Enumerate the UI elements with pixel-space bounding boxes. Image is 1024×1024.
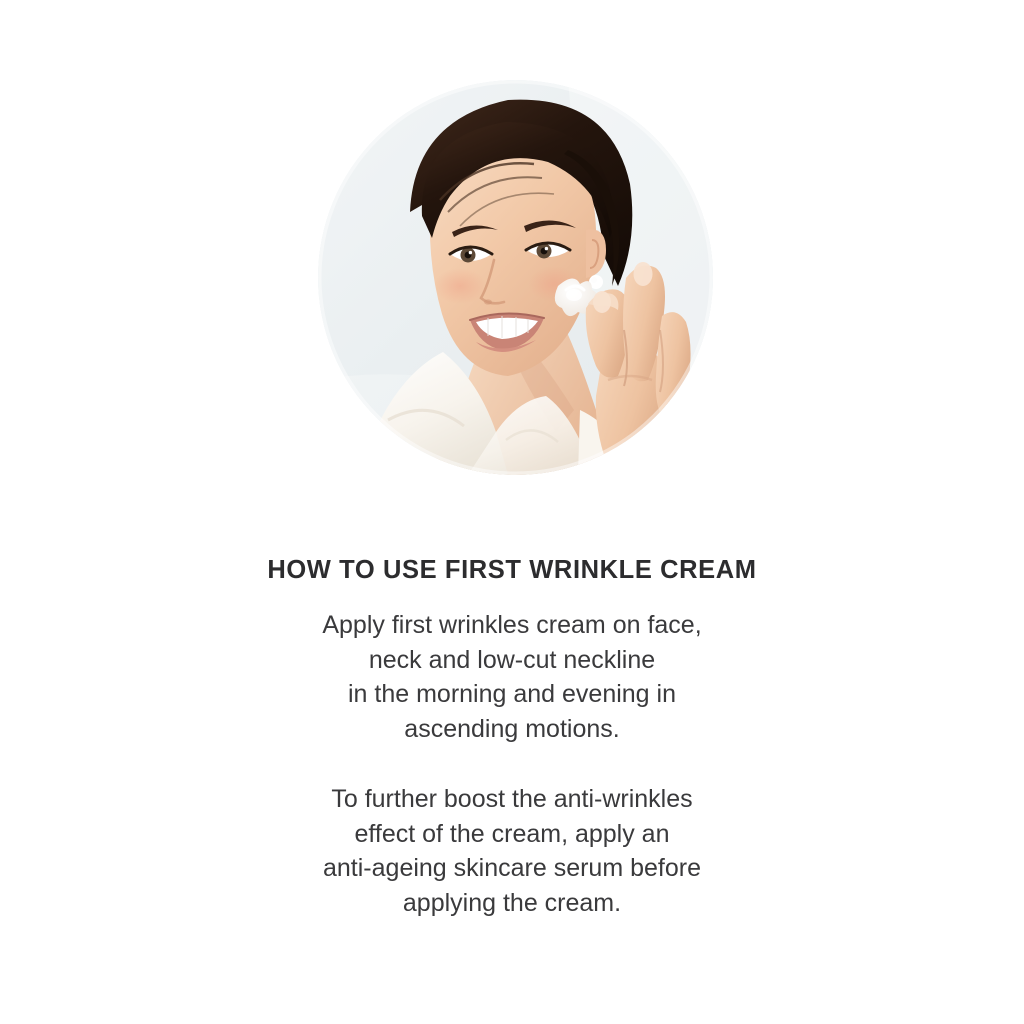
paragraph-line: effect of the cream, apply an <box>162 817 862 852</box>
paragraph-line: To further boost the anti-wrinkles <box>162 782 862 817</box>
instruction-paragraph-1: Apply first wrinkles cream on face, neck… <box>162 608 862 746</box>
instruction-paragraph-2: To further boost the anti-wrinkles effec… <box>162 782 862 920</box>
instructions-body: Apply first wrinkles cream on face, neck… <box>162 608 862 920</box>
paragraph-line: in the morning and evening in <box>162 677 862 712</box>
skincare-instruction-card: HOW TO USE FIRST WRINKLE CREAM Apply fir… <box>0 0 1024 1024</box>
paragraph-line: Apply first wrinkles cream on face, <box>162 608 862 643</box>
paragraph-spacer <box>162 746 862 782</box>
paragraph-line: neck and low-cut neckline <box>162 643 862 678</box>
woman-applying-face-cream-photo <box>318 80 713 475</box>
paragraph-line: ascending motions. <box>162 712 862 747</box>
page-title: HOW TO USE FIRST WRINKLE CREAM <box>0 555 1024 585</box>
paragraph-line: applying the cream. <box>162 886 862 921</box>
paragraph-line: anti-ageing skincare serum before <box>162 851 862 886</box>
hero-image-container <box>318 80 713 475</box>
